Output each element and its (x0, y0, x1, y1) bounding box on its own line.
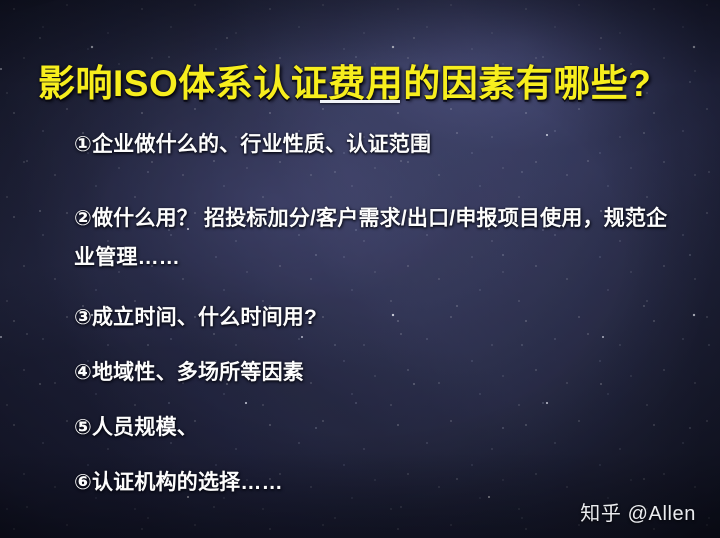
list-item-marker: ④ (74, 359, 92, 387)
zhihu-watermark: 知乎 @Allen (580, 497, 696, 526)
list-item-marker: ① (74, 131, 92, 159)
list-item-text: 人员规模、 (92, 416, 198, 439)
list-item-text: 地域性、多场所等因素 (92, 361, 304, 384)
list-item-text: 做什么用？ 招投标加分/客户需求/出口/申报项目使用，规范企业管理…… (74, 207, 667, 269)
factor-list: ①企业做什么的、行业性质、认证范围 ②做什么用？ 招投标加分/客户需求/出口/申… (74, 131, 674, 496)
list-item-text: 认证机构的选择…… (92, 471, 283, 494)
slide-content: 影响ISO体系认证费用的因素有哪些? ①企业做什么的、行业性质、认证范围 ②做什… (0, 0, 720, 538)
list-item-text: 企业做什么的、行业性质、认证范围 (92, 133, 431, 156)
list-item: ④地域性、多场所等因素 (74, 359, 674, 387)
list-item-text: 成立时间、什么时间用? (92, 306, 317, 329)
presentation-slide: 影响ISO体系认证费用的因素有哪些? ①企业做什么的、行业性质、认证范围 ②做什… (0, 0, 720, 538)
list-item-marker: ③ (74, 304, 92, 332)
list-item: ①企业做什么的、行业性质、认证范围 (74, 131, 674, 159)
list-item: ②做什么用？ 招投标加分/客户需求/出口/申报项目使用，规范企业管理…… (74, 200, 674, 278)
list-item-marker: ⑥ (74, 469, 92, 497)
list-item-marker: ⑤ (74, 414, 92, 442)
title-underline-rule (320, 100, 400, 103)
list-item: ⑥认证机构的选择…… (74, 469, 674, 497)
list-item: ⑤人员规模、 (74, 414, 674, 442)
list-item: ③成立时间、什么时间用? (74, 304, 674, 332)
list-item-marker: ② (74, 200, 92, 239)
